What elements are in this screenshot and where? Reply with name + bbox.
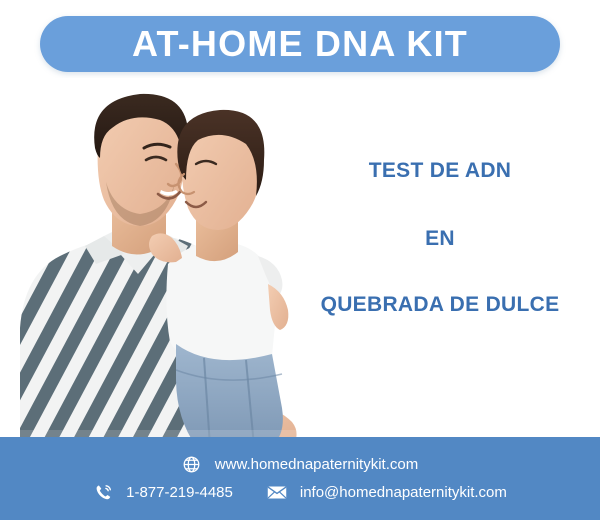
email-label: info@homednapaternitykit.com bbox=[300, 485, 507, 500]
headline-line-1: TEST DE ADN bbox=[300, 160, 580, 181]
website-label: www.homednapaternitykit.com bbox=[215, 457, 418, 472]
headline-line-3: QUEBRADA DE DULCE bbox=[300, 294, 580, 315]
headline-line-2: EN bbox=[300, 228, 580, 249]
page-title: AT-HOME DNA KIT bbox=[132, 26, 468, 62]
family-photo-illustration bbox=[0, 78, 310, 450]
footer-row-phone-email: 1-877-219-4485 info@homednapaternitykit.… bbox=[93, 483, 507, 503]
website-contact[interactable]: www.homednapaternitykit.com bbox=[182, 455, 418, 475]
footer-row-website: www.homednapaternitykit.com bbox=[182, 455, 418, 475]
dna-kit-promo-card: AT-HOME DNA KIT bbox=[0, 0, 600, 520]
globe-icon bbox=[182, 455, 202, 475]
phone-label: 1-877-219-4485 bbox=[126, 485, 233, 500]
email-contact[interactable]: info@homednapaternitykit.com bbox=[267, 483, 507, 503]
phone-icon bbox=[93, 483, 113, 503]
family-photo bbox=[0, 78, 310, 450]
header-badge: AT-HOME DNA KIT bbox=[40, 16, 560, 72]
contact-footer: www.homednapaternitykit.com 1-877-219-44… bbox=[0, 437, 600, 520]
headline-block: TEST DE ADN EN QUEBRADA DE DULCE bbox=[300, 160, 580, 315]
phone-contact[interactable]: 1-877-219-4485 bbox=[93, 483, 233, 503]
envelope-icon bbox=[267, 483, 287, 503]
